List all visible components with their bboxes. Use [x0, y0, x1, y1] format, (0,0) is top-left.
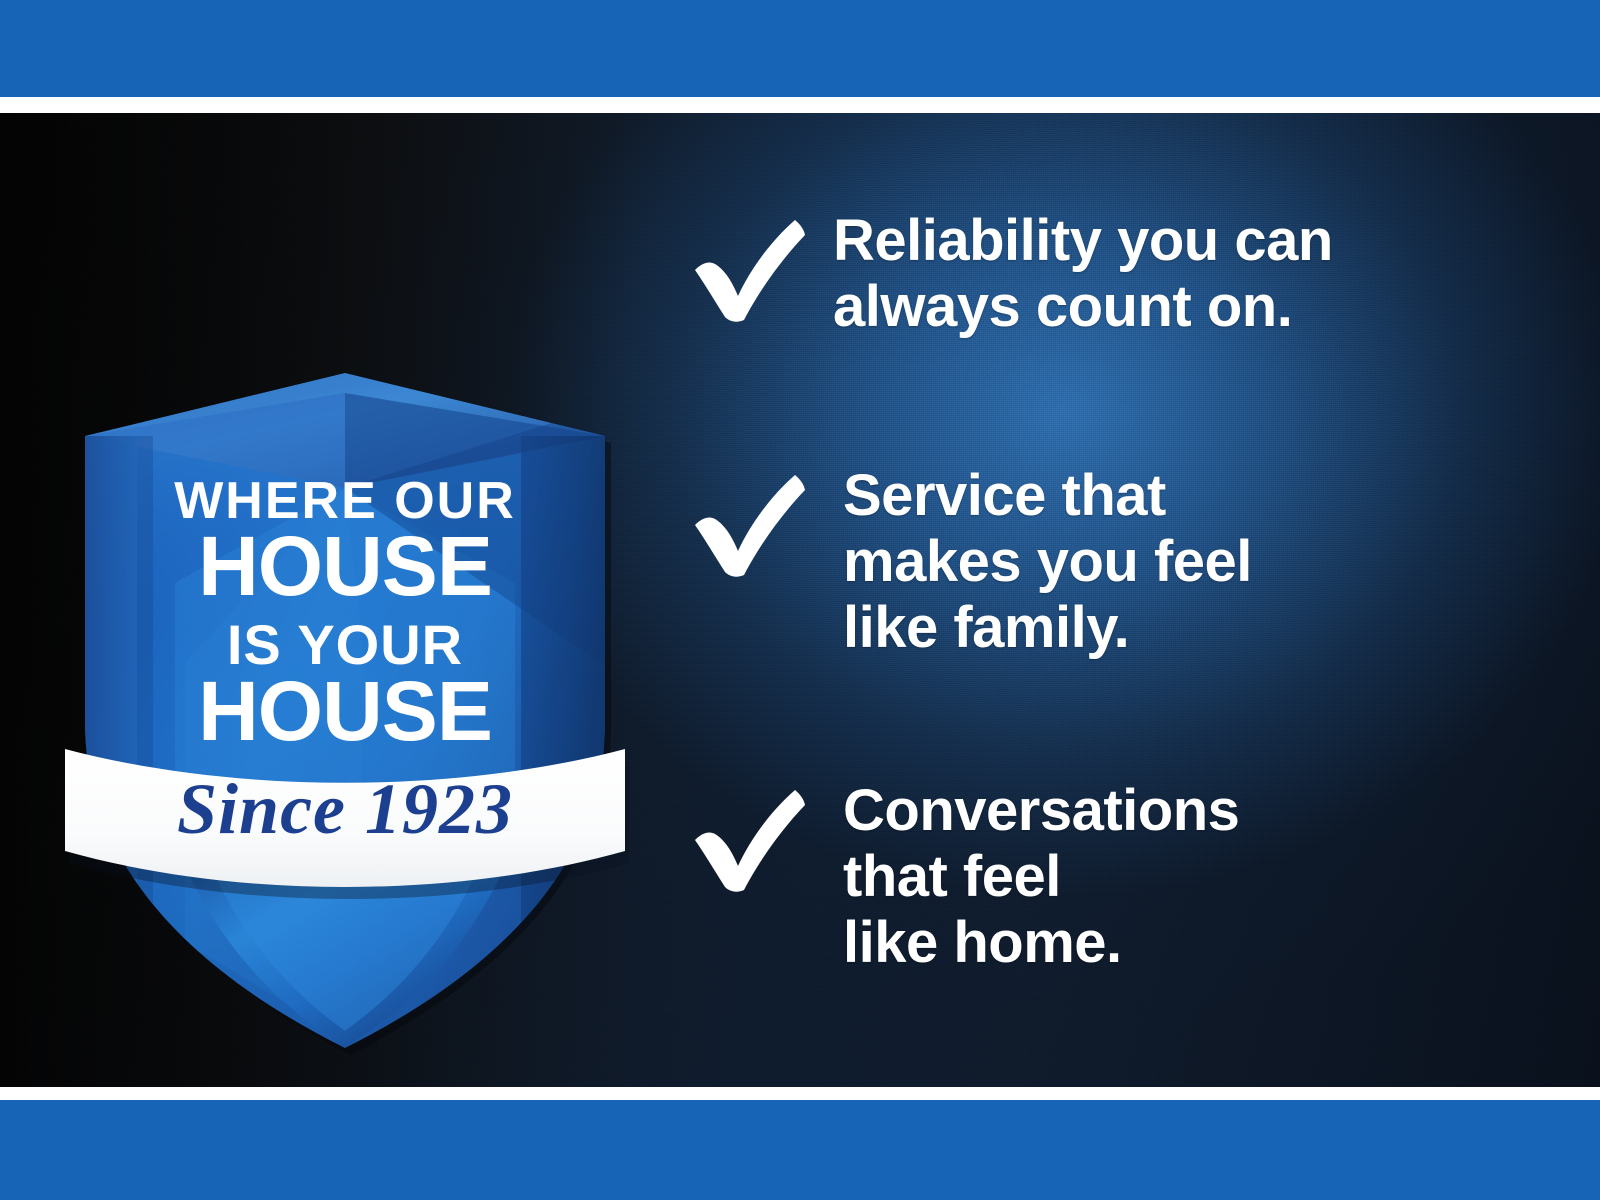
- shield-line-4: HOUSE: [198, 664, 492, 758]
- ribbon-text: Since 1923: [177, 769, 513, 849]
- main-stage: WHERE OUR HOUSE IS YOUR HOUSE Since 1923: [0, 113, 1600, 1087]
- list-item-label: Conversations that feel like home.: [843, 778, 1543, 976]
- shield-left-inner-line: [137, 436, 153, 1056]
- shield-emblem: WHERE OUR HOUSE IS YOUR HOUSE Since 1923: [55, 243, 635, 1073]
- list-item-label: Service that makes you feel like family.: [843, 463, 1543, 661]
- shield-right-shade: [521, 436, 605, 1056]
- top-brand-bar: [0, 0, 1600, 97]
- check-icon: [677, 214, 807, 324]
- shield-line-2: HOUSE: [198, 519, 492, 613]
- since-ribbon: Since 1923: [65, 749, 629, 899]
- check-icon: [677, 469, 807, 579]
- shield-left-edge: [85, 436, 137, 1056]
- list-item-label: Reliability you can always count on.: [833, 208, 1533, 340]
- check-icon: [677, 784, 807, 894]
- bottom-brand-bar: [0, 1100, 1600, 1200]
- promo-graphic: WHERE OUR HOUSE IS YOUR HOUSE Since 1923: [0, 0, 1600, 1200]
